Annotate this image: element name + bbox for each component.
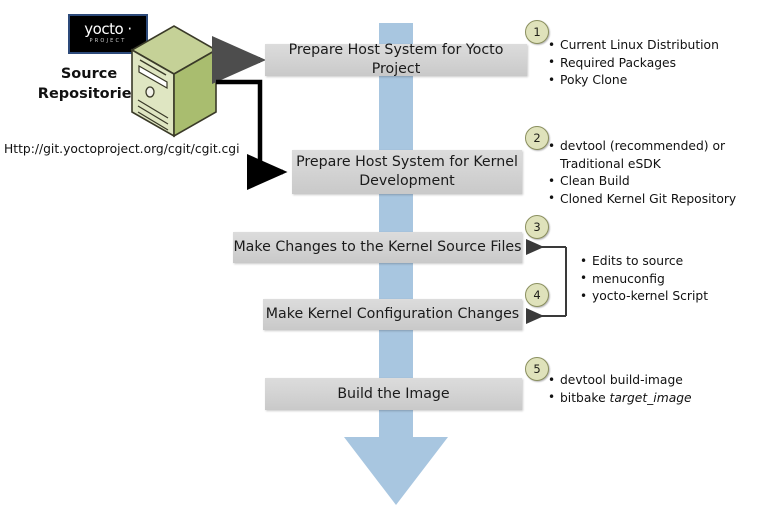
step5-bitbake-target: target_image <box>610 391 692 405</box>
step-badge-2-number: 2 <box>533 131 540 145</box>
step-badge-4: 4 <box>525 283 549 307</box>
list-item: bitbake target_image <box>548 390 763 408</box>
list-item: Poky Clone <box>548 72 763 90</box>
list-item: devtool build-image <box>548 372 763 390</box>
process-box-step2-label: Prepare Host System for Kernel Developme… <box>296 153 518 191</box>
list-item: devtool (recommended) or Traditional eSD… <box>548 138 763 173</box>
step2-bullet1-line2: Traditional eSDK <box>560 157 661 171</box>
list-item: Required Packages <box>548 55 763 73</box>
step-badge-1-number: 1 <box>533 25 540 39</box>
diagram-canvas: yocto · PROJECT Source Repositories Http… <box>0 0 769 517</box>
step2-bullet-list: devtool (recommended) or Traditional eSD… <box>548 138 763 208</box>
step-badge-1: 1 <box>525 20 549 44</box>
step-badge-3-number: 3 <box>533 220 540 234</box>
process-box-step2-line1: Prepare Host System for Kernel <box>296 154 518 170</box>
process-box-step5-label: Build the Image <box>337 385 449 404</box>
list-item: Current Linux Distribution <box>548 37 763 55</box>
step5-bitbake-prefix: bitbake <box>560 391 610 405</box>
list-item: Edits to source <box>580 253 760 271</box>
step1-bullet-list: Current Linux Distribution Required Pack… <box>548 37 763 90</box>
process-box-step3[interactable]: Make Changes to the Kernel Source Files <box>233 232 522 263</box>
list-item: menuconfig <box>580 271 760 289</box>
step-badge-5: 5 <box>525 357 549 381</box>
step-badge-4-number: 4 <box>533 288 540 302</box>
list-item: Cloned Kernel Git Repository <box>548 191 763 209</box>
process-box-step1[interactable]: Prepare Host System for Yocto Project <box>265 44 527 76</box>
step5-bullet-list: devtool build-image bitbake target_image <box>548 372 763 407</box>
step3-step4-bullet-list: Edits to source menuconfig yocto-kernel … <box>580 253 760 306</box>
process-box-step2-line2: Development <box>359 173 455 189</box>
process-box-step4[interactable]: Make Kernel Configuration Changes <box>263 299 522 330</box>
connector-source-to-step2 <box>216 82 283 172</box>
step-badge-2: 2 <box>525 126 549 150</box>
step-badge-5-number: 5 <box>533 362 540 376</box>
process-box-step1-label: Prepare Host System for Yocto Project <box>265 41 527 79</box>
process-box-step5[interactable]: Build the Image <box>265 378 522 410</box>
list-item: yocto-kernel Script <box>580 288 760 306</box>
step2-bullet1-line1: devtool (recommended) or <box>560 139 725 153</box>
process-box-step4-label: Make Kernel Configuration Changes <box>266 305 519 324</box>
process-box-step2[interactable]: Prepare Host System for Kernel Developme… <box>292 150 522 194</box>
process-box-step3-label: Make Changes to the Kernel Source Files <box>233 238 521 257</box>
list-item: Clean Build <box>548 173 763 191</box>
step-badge-3: 3 <box>525 215 549 239</box>
